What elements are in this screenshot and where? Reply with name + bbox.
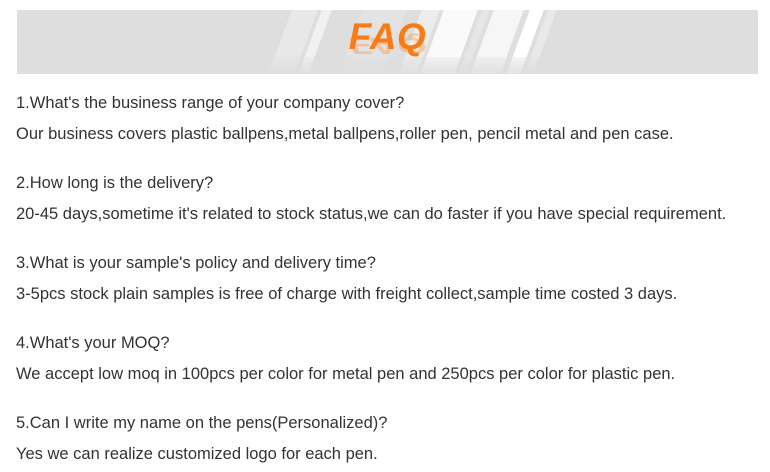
faq-answer: We accept low moq in 100pcs per color fo… bbox=[16, 359, 758, 390]
faq-reflection-fade bbox=[17, 57, 758, 74]
faq-answer: Yes we can realize customized logo for e… bbox=[16, 439, 758, 470]
faq-item: 3.What is your sample's policy and deliv… bbox=[16, 248, 758, 310]
faq-answer: 3-5pcs stock plain samples is free of ch… bbox=[16, 279, 758, 310]
faq-question: 4.What's your MOQ? bbox=[16, 328, 758, 359]
faq-answer: Our business covers plastic ballpens,met… bbox=[16, 119, 758, 150]
faq-answer: 20-45 days,sometime it's related to stoc… bbox=[16, 199, 758, 230]
faq-question: 3.What is your sample's policy and deliv… bbox=[16, 248, 758, 279]
faq-item: 1.What's the business range of your comp… bbox=[16, 88, 758, 150]
faq-item: 4.What's your MOQ? We accept low moq in … bbox=[16, 328, 758, 390]
faq-title: FAQ bbox=[17, 18, 758, 56]
faq-banner: FAQ FAQ bbox=[17, 10, 758, 74]
faq-question: 1.What's the business range of your comp… bbox=[16, 88, 758, 119]
faq-item: 5.Can I write my name on the pens(Person… bbox=[16, 408, 758, 470]
faq-page: FAQ FAQ 1.What's the business range of y… bbox=[0, 0, 770, 472]
faq-content: 1.What's the business range of your comp… bbox=[16, 88, 758, 470]
faq-question: 2.How long is the delivery? bbox=[16, 168, 758, 199]
faq-item: 2.How long is the delivery? 20-45 days,s… bbox=[16, 168, 758, 230]
faq-question: 5.Can I write my name on the pens(Person… bbox=[16, 408, 758, 439]
